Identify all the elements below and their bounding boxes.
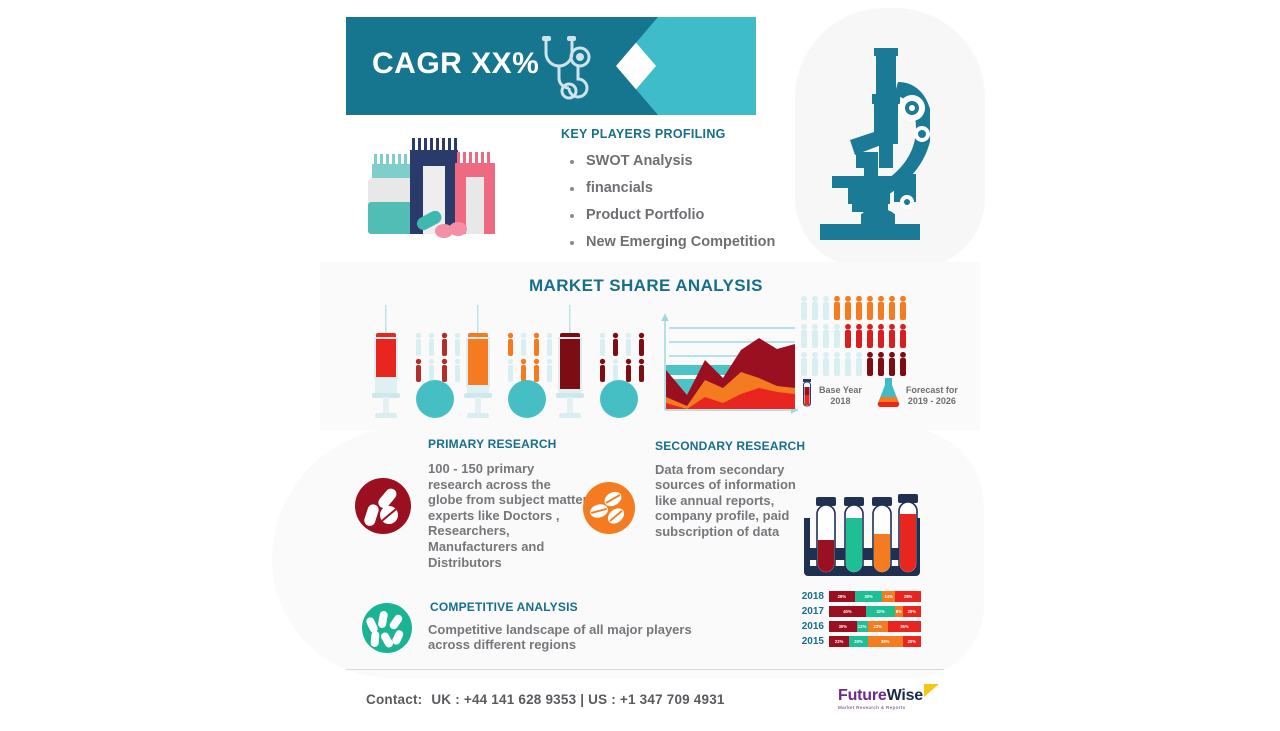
bar-track: 22% 20% 38% 20% [829,636,921,647]
area-chart-icon [655,302,805,422]
logo-wordmark: FutureWise [838,687,923,704]
bar-segment: 22% [868,621,888,632]
key-players-list: SWOT Analysis financials Product Portfol… [562,148,775,256]
bar-year-label: 2017 [798,606,824,617]
footer-divider [346,669,944,670]
pill-bottles-icon [360,136,502,251]
primary-research-title: PRIMARY RESEARCH [428,437,557,451]
bar-segment: 8% [895,606,902,617]
bar-segment: 30% [855,591,883,602]
test-tube-icon [800,379,814,412]
market-share-legend: Base Year 2018 Forecast for 2019 - 2026 [800,378,958,413]
table-row: 2015 22% 20% 38% 20% [798,635,921,648]
stacked-bar-chart: 2018 28% 30% 14% 28% 2017 40% 32% 8% 20%… [798,590,921,650]
futurewise-logo[interactable]: FutureWise Market Research & Reports [838,687,923,710]
cagr-label: CAGR XX% [372,47,539,81]
primary-research-body: 100 - 150 primary research across the gl… [428,461,588,570]
logo-second-part: Wise [887,687,923,704]
cagr-banner: CAGR XX% [346,17,756,115]
legend-base-year: Base Year 2018 [819,385,862,407]
pills-circle-icon [362,603,412,658]
key-players-title: KEY PLAYERS PROFILING [561,127,726,141]
banner-arrow-tip [616,17,658,115]
bar-year-label: 2018 [798,591,824,602]
logo-flag-icon [924,684,939,697]
tablets-circle-icon [583,482,635,539]
table-row: 2018 28% 30% 14% 28% [798,590,921,603]
bar-segment: 30% [829,621,857,632]
competitive-analysis-body: Competitive landscape of all major playe… [428,622,728,653]
list-item: SWOT Analysis [562,148,775,175]
bar-segment: 20% [849,636,867,647]
test-tube-rack-icon [798,492,926,585]
bar-segment: 32% [866,606,895,617]
bar-segment: 14% [882,591,895,602]
bar-year-label: 2016 [798,621,824,632]
bar-segment: 20% [903,606,921,617]
capsules-circle-icon [355,478,411,539]
bar-year-label: 2015 [798,636,824,647]
microscope-icon [812,24,930,251]
bar-segment: 28% [895,591,921,602]
legend-forecast: Forecast for 2019 - 2026 [906,385,958,407]
people-pictogram-icon [800,296,918,383]
secondary-research-body: Data from secondary sources of informati… [655,462,805,539]
logo-first-part: Future [838,687,887,704]
list-item: New Emerging Competition [562,229,775,256]
bar-segment: 20% [903,636,921,647]
table-row: 2017 40% 32% 8% 20% [798,605,921,618]
stethoscope-icon [536,35,598,106]
flask-icon [875,378,901,413]
bar-segment: 40% [829,606,866,617]
contact-line: Contact:UK : +44 141 628 9353 | US : +1 … [366,692,725,707]
contact-value: UK : +44 141 628 9353 | US : +1 347 709 … [431,692,724,707]
table-row: 2016 30% 12% 22% 36% [798,620,921,633]
list-item: Product Portfolio [562,202,775,229]
bar-segment: 36% [888,621,921,632]
contact-label: Contact: [366,692,422,707]
bar-track: 40% 32% 8% 20% [829,606,921,617]
bar-track: 30% 12% 22% 36% [829,621,921,632]
infographic-page: CAGR XX% [0,0,1280,731]
syringes-icon [360,305,650,425]
logo-tagline: Market Research & Reports [838,705,923,710]
bar-segment: 28% [829,591,855,602]
bar-segment: 22% [829,636,849,647]
bar-segment: 38% [868,636,903,647]
competitive-analysis-title: COMPETITIVE ANALYSIS [430,600,578,614]
market-share-title: MARKET SHARE ANALYSIS [529,276,763,296]
bar-track: 28% 30% 14% 28% [829,591,921,602]
secondary-research-title: SECONDARY RESEARCH [655,439,805,453]
bar-segment: 12% [857,621,868,632]
list-item: financials [562,175,775,202]
